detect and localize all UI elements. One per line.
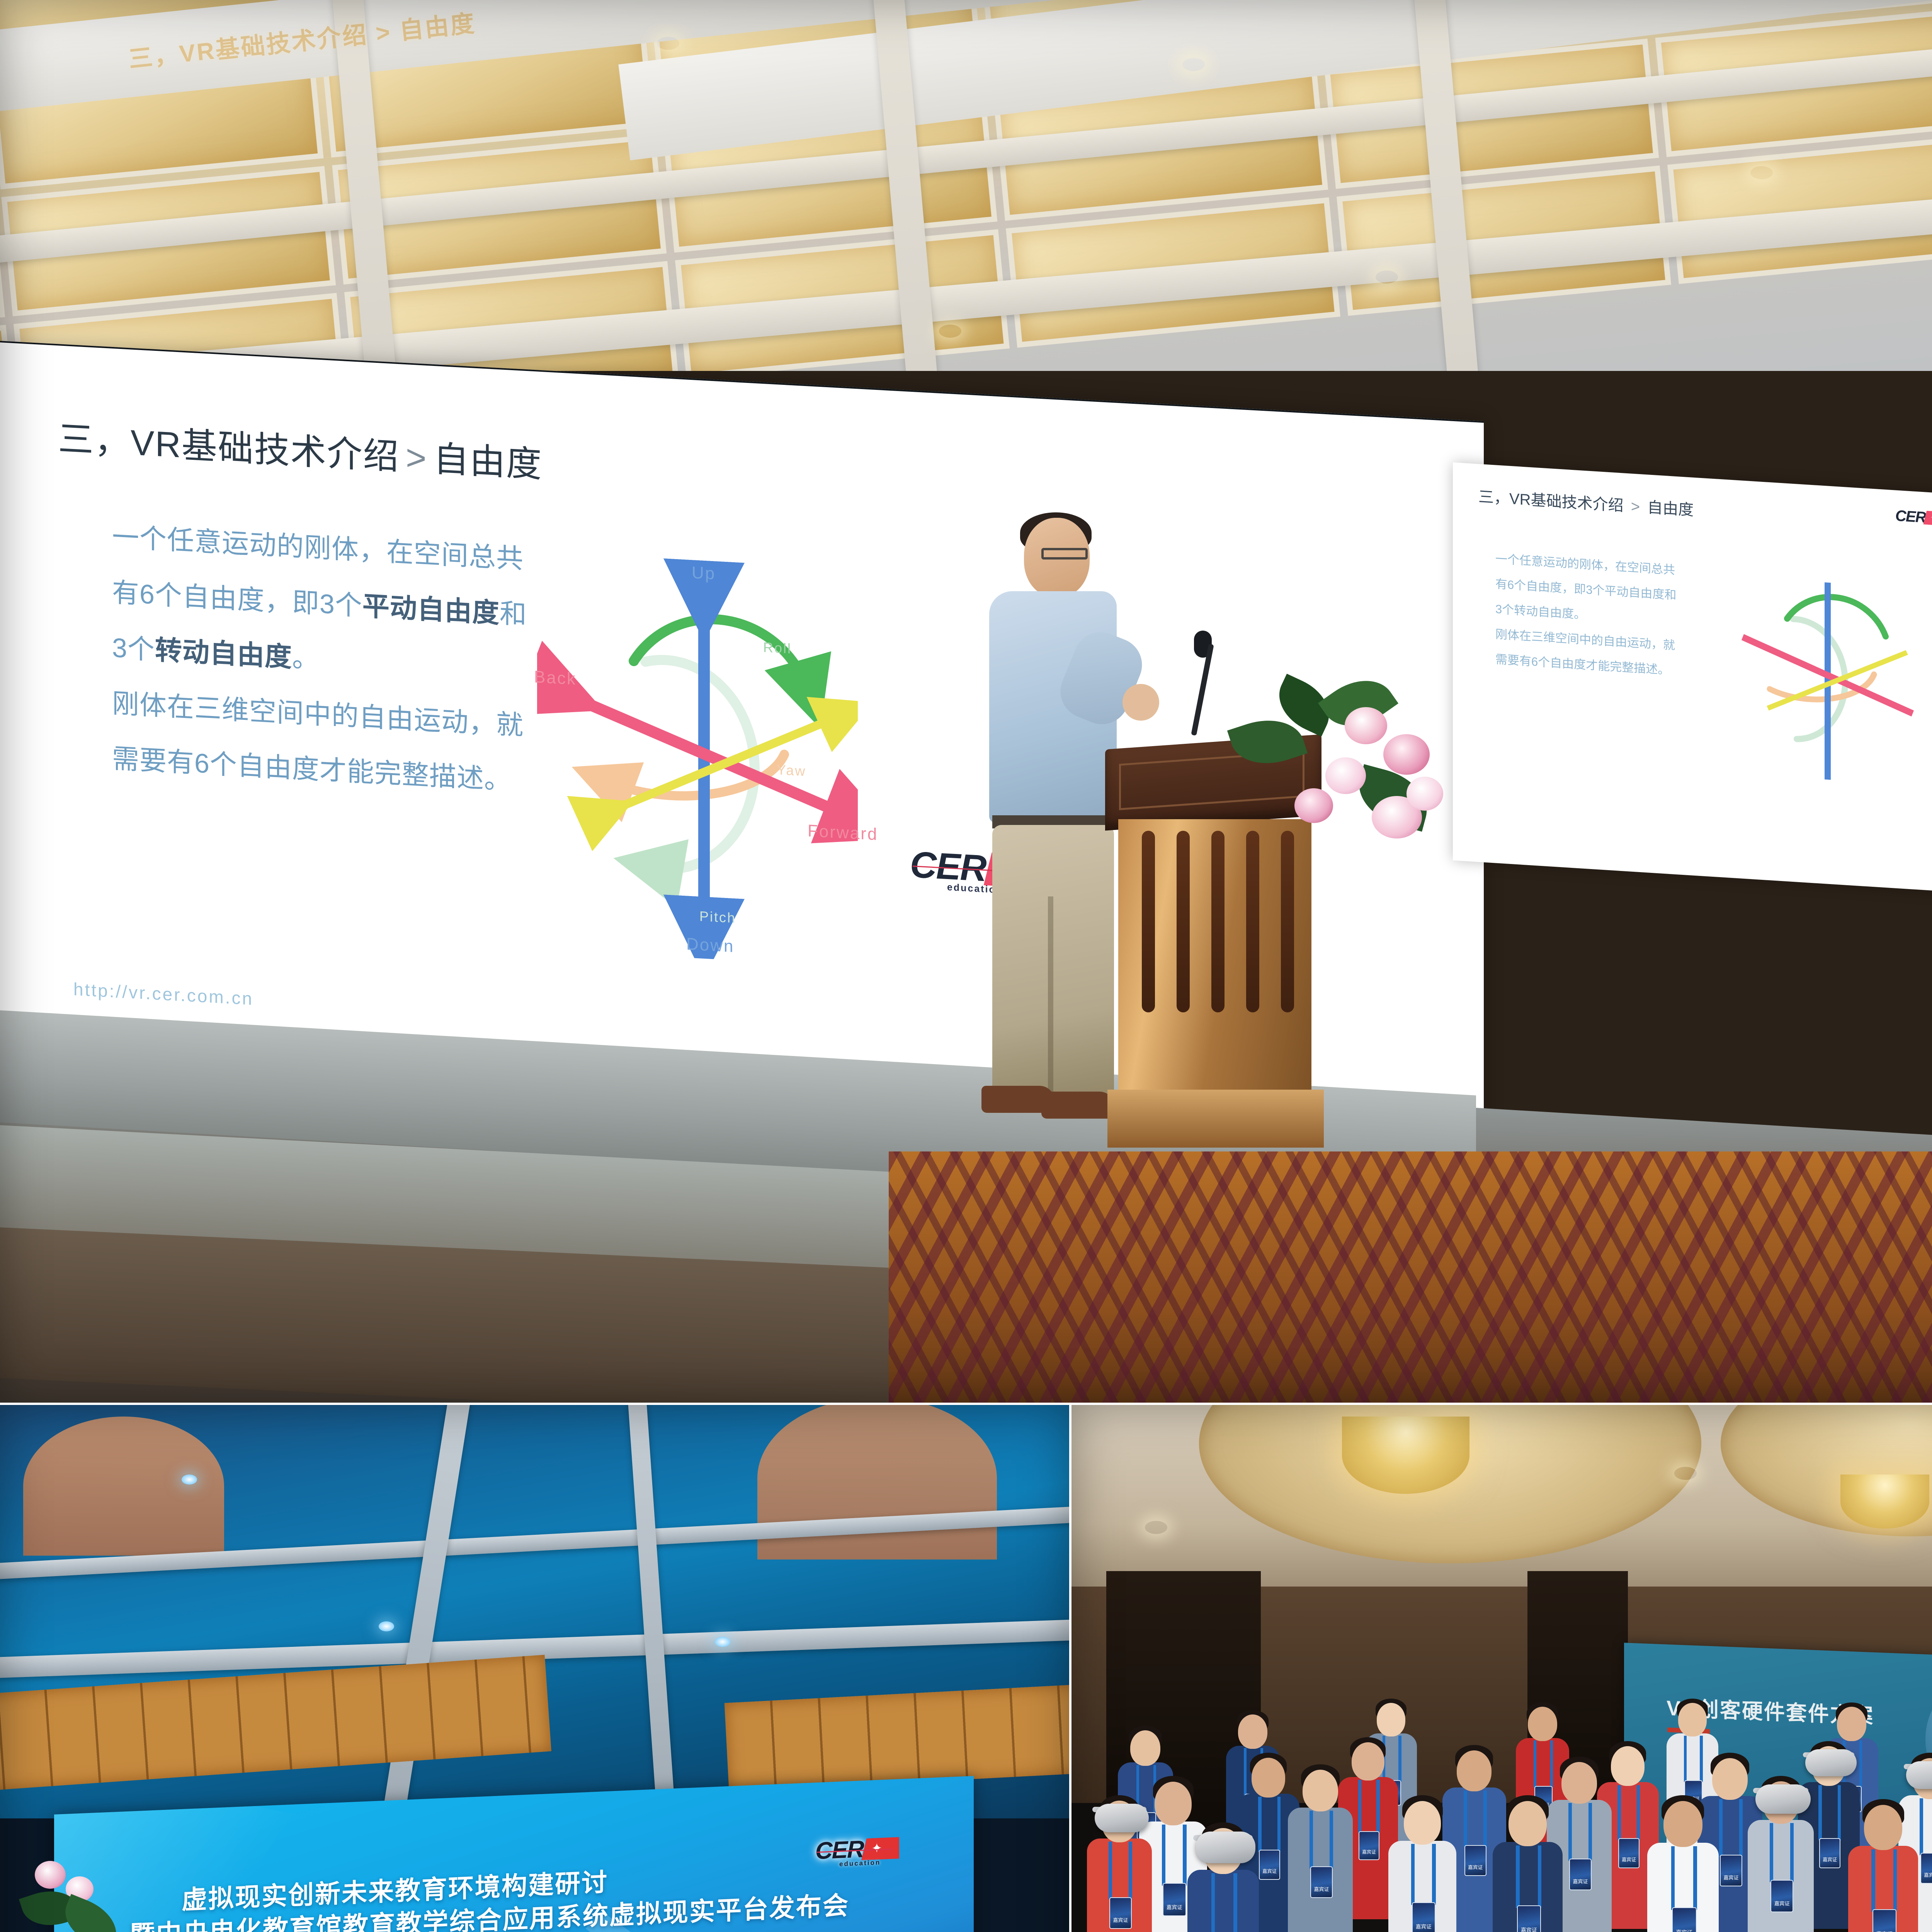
slide-body-text: 一个任意运动的刚体，在空间总共 有6个自由度，即3个平动自由度和 3个转动自由度… — [112, 509, 568, 811]
attendee-lanyard — [1211, 1873, 1215, 1932]
attendee: 嘉宾证 — [1388, 1795, 1458, 1932]
attendee-head — [1611, 1746, 1645, 1786]
attendee-lanyard — [1330, 1811, 1333, 1869]
photo-collage: 三，VR基础技术介绍 > 自由度 三，VR基础技术介绍>自由度 CER ✦ ed — [0, 0, 1932, 1932]
attendee-lanyard — [1129, 1842, 1132, 1900]
secondary-presentation-screen: 三，VR基础技术介绍 > 自由度 CER ✦ 一个任意运动的刚体，在空间总共 有… — [1453, 463, 1932, 894]
attendee-badge-label: 嘉宾证 — [1873, 1930, 1896, 1932]
attendee-badge: 嘉宾证 — [1310, 1866, 1333, 1898]
attendee-lanyard — [1920, 1798, 1923, 1855]
attendee-badge: 嘉宾证 — [1359, 1831, 1379, 1860]
attendee-lanyard — [1464, 1791, 1467, 1847]
attendee: 嘉宾证 — [1647, 1795, 1719, 1932]
attendee: 嘉宾证 — [1848, 1799, 1919, 1932]
attendee-badge-label: 嘉宾证 — [1518, 1926, 1541, 1932]
attendee: 嘉宾证 — [1748, 1776, 1815, 1932]
attendee-badge: 嘉宾证 — [1517, 1905, 1541, 1932]
attendee-badge-label: 嘉宾证 — [1163, 1903, 1185, 1911]
cer-logo-secondary: CER ✦ — [1895, 509, 1932, 526]
attendee-torso — [1748, 1820, 1814, 1932]
speaker-leg-split — [1048, 896, 1053, 1097]
chandelier-small — [1840, 1475, 1929, 1529]
collage-divider-vertical — [1069, 1405, 1071, 1932]
attendee-badge-label: 嘉宾证 — [1820, 1856, 1840, 1863]
attendee-badge: 嘉宾证 — [1672, 1907, 1697, 1932]
panel-vr-demo-crowd: VR创客硬件套件方案 优质内容资源 低成本人人可用 超高清沉浸体验 便于课堂组织… — [1071, 1405, 1932, 1932]
attendee-lanyard — [1516, 1845, 1520, 1908]
attendee-head — [1130, 1730, 1160, 1766]
attendee-badge-label: 嘉宾证 — [1260, 1867, 1279, 1874]
dof-label-up: Up — [692, 563, 716, 583]
attendee: 嘉宾证 — [1493, 1795, 1564, 1932]
attendee-lanyard — [1162, 1825, 1165, 1886]
attendee-head — [1377, 1703, 1405, 1736]
dof-label-pitch: Pitch — [699, 908, 736, 926]
six-dof-svg — [537, 540, 858, 967]
slide-title-prefix: 三，VR基础技术介绍 — [58, 419, 400, 477]
speaker-hand — [1122, 684, 1159, 721]
attendee-head — [1509, 1801, 1547, 1846]
secondary-slide-title: 三，VR基础技术介绍 > 自由度 — [1478, 484, 1694, 520]
attendee-badge-label: 嘉宾证 — [1673, 1928, 1696, 1932]
attendee-lanyard — [1671, 1846, 1675, 1910]
attendee: 嘉宾证 — [1087, 1795, 1153, 1932]
attendee-head — [1404, 1801, 1441, 1845]
attendee-lanyard — [1568, 1803, 1572, 1861]
speaker-shoe-right — [1041, 1092, 1115, 1119]
dof-label-forward: Forward — [808, 821, 878, 844]
attendee: 嘉宾证 — [1187, 1822, 1260, 1932]
panel-conference-banner: 虚拟现实创新未来教育环境构建研讨 暨中央电化教育馆教育教学综合应用系统虚拟现实平… — [0, 1405, 1070, 1932]
cer-logo-banner: CER ✦ education — [815, 1837, 899, 1862]
attendee-lanyard — [1358, 1780, 1361, 1833]
podium-slat — [1211, 831, 1225, 1012]
attendee-head — [1155, 1782, 1192, 1825]
attendee-lanyard — [1483, 1791, 1487, 1847]
flower-arrangement — [1229, 672, 1461, 912]
vr-headset — [1196, 1832, 1255, 1863]
attendee-lanyard — [1617, 1785, 1621, 1840]
slide-title: 三，VR基础技术介绍>自由度 — [58, 410, 543, 487]
attendee-lanyard — [1277, 1797, 1281, 1852]
vr-headset — [1805, 1749, 1857, 1776]
attendee-badge-label: 嘉宾证 — [1771, 1900, 1793, 1907]
podium-base — [1107, 1090, 1324, 1148]
attendee-head — [1238, 1714, 1267, 1749]
dof-label-down: Down — [686, 934, 735, 956]
slide-footer-url: http://vr.cer.com.cn — [73, 978, 253, 1009]
attendee-badge: 嘉宾证 — [1259, 1850, 1280, 1880]
attendee-torso — [1187, 1870, 1259, 1932]
attendee-badge-label: 嘉宾证 — [1413, 1922, 1435, 1930]
panel-stage-presentation: 三，VR基础技术介绍 > 自由度 三，VR基础技术介绍>自由度 CER ✦ ed — [0, 0, 1932, 1403]
collage-divider-horizontal — [0, 1403, 1932, 1405]
attendee-head — [1528, 1707, 1557, 1741]
hall-carpet — [889, 1151, 1932, 1403]
attendee-lanyard — [1893, 1849, 1897, 1912]
attendee-badge: 嘉宾证 — [1872, 1909, 1897, 1932]
attendee-badge: 嘉宾证 — [1163, 1883, 1186, 1916]
attendee-head — [1864, 1805, 1902, 1850]
attendee: 嘉宾证 — [1288, 1764, 1354, 1932]
attendee-lanyard — [1233, 1873, 1237, 1932]
attendee-lanyard — [1684, 1736, 1687, 1782]
secondary-six-dof-diagram — [1731, 549, 1917, 808]
cer-logo-red-shape: ✦ — [861, 1837, 899, 1860]
attendee-badge: 嘉宾证 — [1770, 1880, 1793, 1912]
slide-title-separator: > — [406, 438, 427, 478]
attendee-lanyard — [1838, 1785, 1841, 1840]
attendee-badge: 嘉宾证 — [1109, 1897, 1132, 1929]
attendee-head — [1837, 1707, 1866, 1741]
attendee-lanyard — [1693, 1846, 1697, 1910]
attendee-lanyard — [1411, 1844, 1415, 1905]
slide-title-sub: 自由度 — [434, 439, 543, 485]
attendee-lanyard — [1719, 1799, 1723, 1857]
attendee-lanyard — [1183, 1825, 1186, 1886]
stage-flower-stand — [23, 1853, 139, 1932]
attendee-lanyard — [1770, 1823, 1773, 1882]
attendee-head — [1561, 1762, 1597, 1804]
attendee-badge: 嘉宾证 — [1618, 1838, 1639, 1868]
attendee-head — [1303, 1770, 1338, 1811]
podium-slat — [1142, 831, 1155, 1012]
vr-headset — [1755, 1784, 1811, 1813]
attendee-head — [1712, 1758, 1748, 1800]
blue-lit-ceiling — [0, 1405, 1070, 1818]
attendee-lanyard — [1739, 1799, 1743, 1857]
attendee-badge: 嘉宾证 — [1569, 1859, 1592, 1890]
attendee-badge: 嘉宾证 — [1720, 1855, 1742, 1886]
attendee-badge-label: 嘉宾证 — [1721, 1874, 1742, 1881]
attendee-lanyard — [1588, 1803, 1592, 1861]
dof-label-yaw: Yaw — [777, 762, 806, 779]
attendee-lanyard — [1818, 1785, 1822, 1840]
vr-headset — [1095, 1804, 1149, 1832]
attendee-badge-label: 嘉宾证 — [1110, 1916, 1131, 1923]
podium-slat — [1177, 831, 1190, 1012]
chandelier-large — [1342, 1417, 1469, 1494]
attendee-badge: 嘉宾证 — [1819, 1838, 1840, 1868]
attendee-badge-label: 嘉宾证 — [1465, 1863, 1486, 1871]
attendee-badge: 嘉宾证 — [1412, 1902, 1435, 1932]
attendee-badge: 嘉宾证 — [1920, 1853, 1932, 1884]
six-dof-diagram: Up Down Back Forward Roll Pitch Yaw — [537, 540, 858, 967]
attendee-lanyard — [1109, 1842, 1112, 1900]
secondary-slide-body: 一个任意运动的刚体，在空间总共 有6个自由度，即3个平动自由度和 3个转动自由度… — [1495, 546, 1704, 685]
attendee-lanyard — [1538, 1845, 1542, 1908]
attendee-head — [1252, 1758, 1285, 1798]
hall-ceiling: 三，VR基础技术介绍 > 自由度 — [0, 0, 1932, 371]
attendee-badge-label: 嘉宾证 — [1619, 1856, 1639, 1863]
speaker-glasses — [1041, 548, 1088, 560]
attendee-lanyard — [1376, 1780, 1379, 1833]
attendee-head — [1352, 1742, 1384, 1781]
attendee-badge-label: 嘉宾证 — [1311, 1885, 1332, 1893]
attendee-badge: 嘉宾证 — [1464, 1845, 1486, 1876]
attendee-lanyard — [1871, 1849, 1875, 1912]
attendee-lanyard — [1534, 1740, 1536, 1788]
dof-label-back: Back — [534, 667, 577, 689]
attendee-lanyard — [1432, 1844, 1435, 1905]
attendee-lanyard — [1310, 1811, 1313, 1869]
attendee-badge-label: 嘉宾证 — [1570, 1878, 1591, 1885]
attendee-lanyard — [1790, 1823, 1794, 1882]
attendee-head — [1457, 1750, 1492, 1791]
attendee-lanyard — [1637, 1785, 1640, 1840]
cer-logo-subtitle: education — [839, 1859, 881, 1868]
attendee-badge-label: 嘉宾证 — [1921, 1871, 1932, 1878]
attendee-head — [1678, 1703, 1707, 1736]
vr-headset — [1906, 1761, 1932, 1789]
attendee-badge-label: 嘉宾证 — [1359, 1849, 1378, 1855]
attendee-head — [1663, 1801, 1702, 1847]
attendee-lanyard — [1398, 1736, 1401, 1782]
dof-label-roll: Roll — [763, 639, 792, 657]
